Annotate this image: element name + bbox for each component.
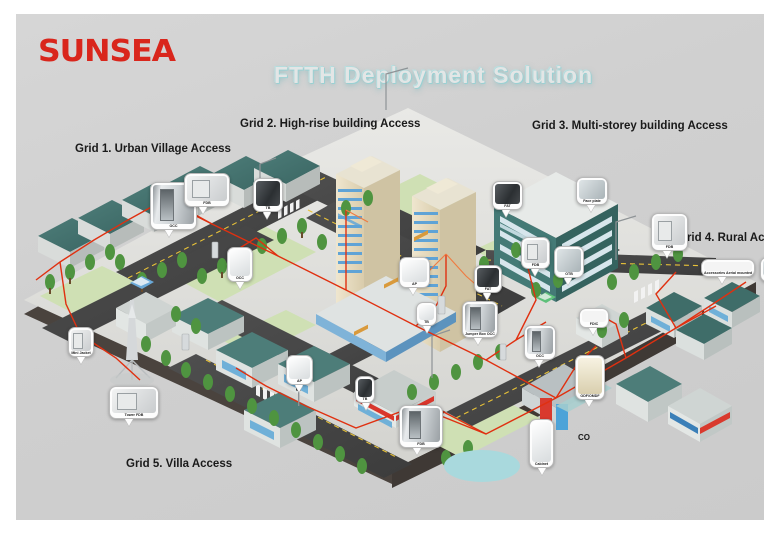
high-rise-towers xyxy=(316,156,476,362)
callout-tail xyxy=(483,293,491,300)
callout-tail xyxy=(409,288,417,295)
callout-caption: FAT xyxy=(477,287,499,292)
callout-tail xyxy=(263,212,271,219)
callout-caption: FDIC xyxy=(582,322,606,327)
callout-thumbnail-icon xyxy=(71,330,91,351)
callout-thumbnail-icon xyxy=(256,181,280,206)
callout-face-plate[interactable]: Face plate xyxy=(576,177,608,205)
callout-thumbnail-icon xyxy=(358,379,372,397)
callout-ap[interactable]: AP xyxy=(399,257,430,288)
diagram-canvas: SUNSEA FTTH Deployment Solution xyxy=(16,14,764,520)
park-pond xyxy=(444,450,520,482)
callout-tail xyxy=(663,251,671,258)
callout-thumbnail-icon xyxy=(230,250,250,276)
grid-label-1: Grid 1. Urban Village Access xyxy=(75,143,231,155)
callout-caption: OCC xyxy=(230,276,250,281)
co-site-label: CO xyxy=(578,433,590,442)
callout-cabinet[interactable]: Cabinet xyxy=(529,419,554,468)
callout-occ[interactable]: OCC xyxy=(524,325,556,360)
callout-thumbnail-icon xyxy=(578,358,602,394)
callout-thumbnail-icon xyxy=(654,216,685,245)
callout-tail xyxy=(199,207,207,214)
callout-tail xyxy=(413,448,421,455)
screenshot-root: SUNSEA FTTH Deployment Solution xyxy=(0,0,780,534)
callout-mini-jacket[interactable]: Mini Jacket xyxy=(68,327,94,357)
callout-caption: TB xyxy=(358,397,372,402)
callout-caption: FDB xyxy=(524,263,547,268)
callout-accessories-aerial-mounted[interactable]: Accessories Aerial mounted xyxy=(701,259,755,277)
callout-thumbnail-icon xyxy=(582,311,606,322)
callout-caption: Cabinet xyxy=(532,462,551,467)
callout-caption: FDB xyxy=(187,201,227,206)
callout-tb[interactable]: TB xyxy=(416,302,437,326)
callout-tail xyxy=(362,403,370,410)
callout-thumbnail-icon xyxy=(763,260,764,276)
callout-tail xyxy=(538,468,546,475)
callout-jumper-box-occ[interactable]: Jumper Box OCC xyxy=(462,301,498,338)
callout-caption: TB xyxy=(419,320,434,325)
callout-thumbnail-icon xyxy=(402,260,427,282)
callout-fdb[interactable]: FDB xyxy=(651,213,688,251)
callout-tb[interactable]: TB xyxy=(355,376,375,403)
callout-tail xyxy=(589,328,597,335)
callout-caption: AP xyxy=(402,282,427,287)
callout-thumbnail-icon xyxy=(579,180,605,199)
callout-fdb[interactable]: FDB xyxy=(184,173,230,207)
callout-thumbnail-icon xyxy=(527,328,553,354)
callout-caption: AP xyxy=(289,379,310,384)
callout-tail xyxy=(236,282,244,289)
callout-caption: ODF/OMDF xyxy=(578,394,602,399)
callout-tail xyxy=(165,230,173,237)
callout-tail xyxy=(423,326,431,333)
callout-thumbnail-icon xyxy=(704,262,752,271)
callout-tail xyxy=(77,357,85,364)
callout-fat[interactable]: FAT xyxy=(474,265,502,293)
callout-thumbnail-icon xyxy=(532,422,551,462)
callout-caption: Mini Jacket xyxy=(71,351,91,356)
callout-caption: Face plate xyxy=(579,199,605,204)
callout-tb[interactable]: TB xyxy=(253,178,283,212)
callout-caption: Jumper Box OCC xyxy=(465,332,495,337)
callout-caption: OCC xyxy=(153,224,194,229)
callout-tower-fdb[interactable]: Tower FDB xyxy=(109,386,159,419)
callout-tail xyxy=(535,360,543,367)
callout-caption: FDB xyxy=(402,442,440,447)
callout-caption: Accessories Aerial mounted xyxy=(704,271,752,276)
callout-thumbnail-icon xyxy=(477,268,499,287)
callout-fat[interactable]: FAT xyxy=(492,181,523,210)
callout-thumbnail-icon xyxy=(187,176,227,201)
callout-thumbnail-icon xyxy=(419,305,434,320)
callout-fdb[interactable]: FDB xyxy=(399,405,443,448)
callout-thumbnail-icon xyxy=(557,249,581,272)
callout-tail xyxy=(718,277,726,284)
grid-label-3: Grid 3. Multi-storey building Access xyxy=(532,120,728,132)
callout-caption: FDB xyxy=(654,245,685,250)
callout-fdic[interactable]: FDIC xyxy=(579,308,609,328)
callout-tail xyxy=(585,400,593,407)
callout-caption: OTB xyxy=(557,272,581,277)
callout-caption: Socket xyxy=(763,276,764,281)
callout-caption: Tower FDB xyxy=(112,413,156,418)
callout-thumbnail-icon xyxy=(289,358,310,379)
callout-occ[interactable]: OCC xyxy=(227,247,253,282)
callout-ap[interactable]: AP xyxy=(286,355,313,385)
callout-tail xyxy=(531,269,539,276)
callout-tail xyxy=(587,205,595,212)
callout-otb[interactable]: OTB xyxy=(554,246,584,278)
callout-tail xyxy=(502,210,510,217)
callout-socket[interactable]: Socket xyxy=(760,257,764,282)
callout-tail xyxy=(125,419,133,426)
callout-tail xyxy=(295,385,303,392)
callout-caption: TB xyxy=(256,206,280,211)
grid-label-2: Grid 2. High-rise building Access xyxy=(240,118,420,130)
callout-fdb[interactable]: FDB xyxy=(521,237,550,269)
callout-caption: FAT xyxy=(495,204,520,209)
callout-odf-omdf[interactable]: ODF/OMDF xyxy=(575,355,605,400)
callout-thumbnail-icon xyxy=(495,184,520,204)
callout-thumbnail-icon xyxy=(524,240,547,263)
callout-tail xyxy=(474,338,482,345)
isometric-city-illustration xyxy=(16,14,764,520)
grid-label-4: Grid 4. Rural Access xyxy=(678,232,764,244)
callout-thumbnail-icon xyxy=(465,304,495,332)
grid-label-5: Grid 5. Villa Access xyxy=(126,458,232,470)
callout-tail xyxy=(564,278,572,285)
callout-caption: OCC xyxy=(527,354,553,359)
callout-thumbnail-icon xyxy=(402,408,440,442)
callout-thumbnail-icon xyxy=(112,389,156,413)
